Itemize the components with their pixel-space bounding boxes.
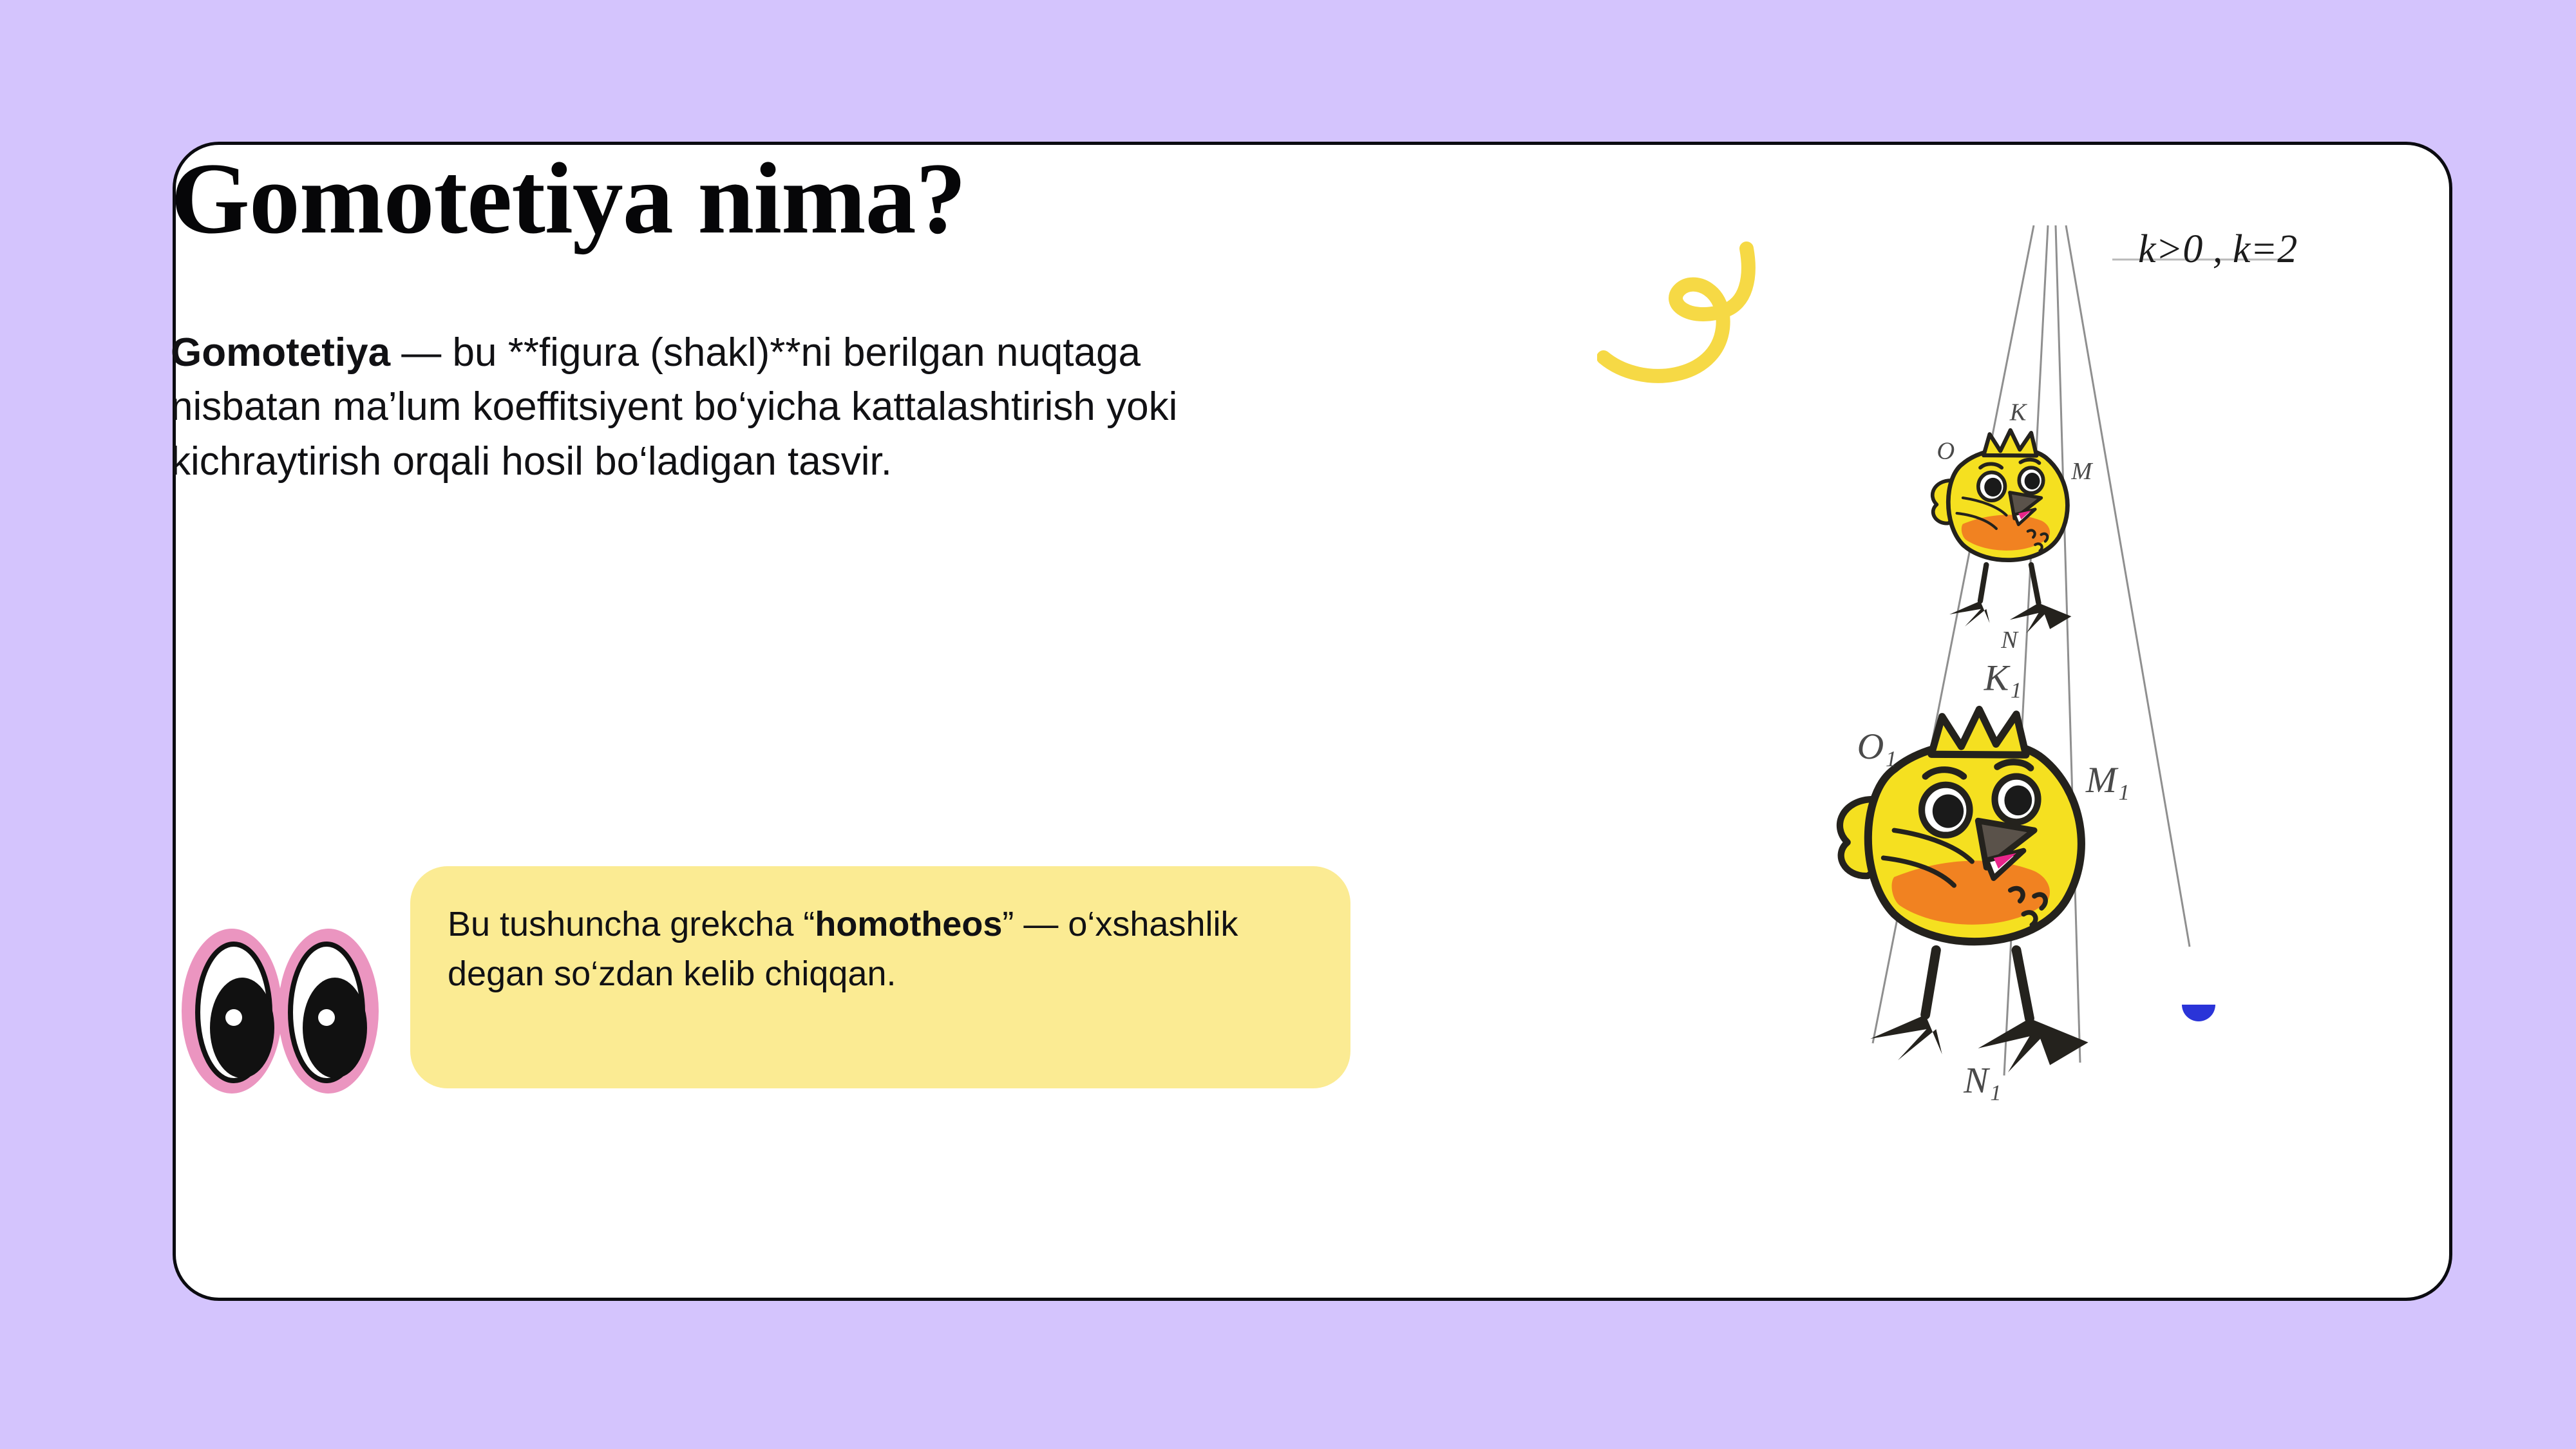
definition-paragraph: Gomotetiya — bu **figura (shakl)**ni ber… [171,250,1201,489]
callout-row: Bu tushuncha grekcha “homotheos” — o‘xsh… [171,866,1350,1104]
callout-text: Bu tushuncha grekcha “homotheos” — o‘xsh… [448,900,1312,999]
svg-text:K: K [2009,399,2028,426]
squiggle-decoration-icon [1597,225,1771,399]
svg-text:M: M [2070,458,2093,485]
svg-text:M₁: M₁ [2085,760,2130,800]
page-title: Gomotetiya nima? [171,148,1536,250]
homothety-illustration: k>0 , k=2 [1777,187,2357,1172]
svg-text:N₁: N₁ [1963,1061,2002,1101]
artwork-caption: k>0 , k=2 [2112,227,2297,271]
projection-rays [1873,225,2190,1075]
left-column: Gomotetiya nima? Gomotetiya — bu **figur… [171,148,1536,489]
svg-text:K₁: K₁ [1984,658,2022,699]
callout-box: Bu tushuncha grekcha “homotheos” — o‘xsh… [410,866,1350,1088]
svg-text:O₁: O₁ [1857,726,1897,767]
callout-text-before: Bu tushuncha grekcha “ [448,905,815,943]
callout-highlight-term: homotheos [815,905,1002,943]
blue-dot-mark [2182,1005,2215,1021]
svg-text:O: O [1937,438,1955,465]
definition-lead-term: Gomotetiya [171,330,390,375]
slide: Gomotetiya nima? Gomotetiya — bu **figur… [0,0,2576,1449]
svg-text:k>0 , k=2: k>0 , k=2 [2138,227,2297,271]
eyes-icon [177,918,383,1104]
large-chick-figure: O₁ K₁ M₁ N₁ [1840,658,2130,1101]
svg-text:N: N [2000,627,2019,654]
